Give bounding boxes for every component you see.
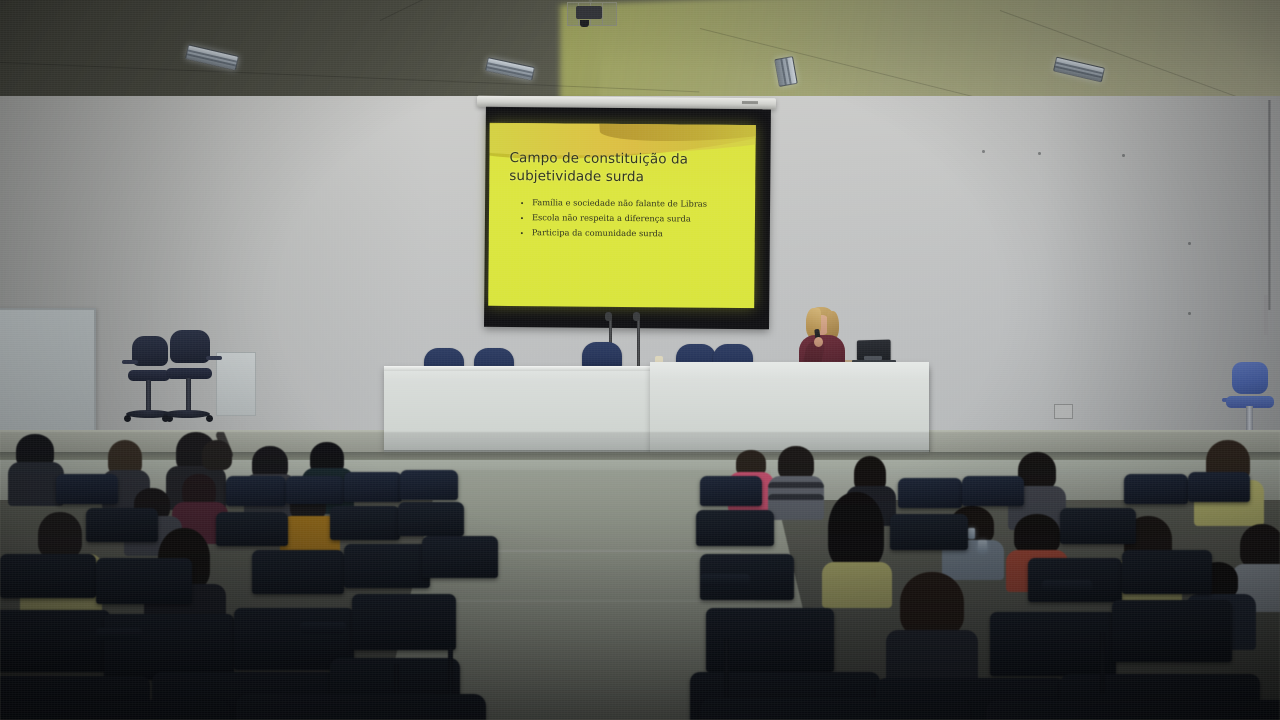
wall-conduit: [1268, 100, 1271, 310]
auditorium-seat: [0, 610, 110, 672]
auditorium-seat: [398, 502, 464, 536]
auditorium-seat: [330, 506, 400, 540]
slide-bullet-item: Participa da comunidade surda: [532, 227, 754, 239]
projection-screen: Campo de constituição da subjetividade s…: [480, 97, 770, 332]
auditorium-seat: [890, 514, 968, 550]
auditorium-seat-foreground: [0, 700, 230, 720]
auditorium-seat: [1124, 474, 1188, 504]
left-wall-panel: [0, 308, 96, 432]
slide-title-line-2: subjetividade surda: [509, 167, 734, 187]
auditorium-seat: [400, 470, 458, 500]
auditorium-seat: [962, 476, 1024, 506]
auditorium-seat: [216, 512, 288, 546]
smartphone-icon: [978, 540, 987, 552]
seat-armrest: [1042, 580, 1092, 592]
auditorium-seat: [252, 550, 344, 594]
seat-leg: [724, 638, 729, 700]
auditorium-seat: [0, 554, 96, 598]
smartphone-icon: [968, 528, 975, 539]
slide-title: Campo de constituição da subjetividade s…: [509, 149, 734, 187]
auditorium-seat: [696, 510, 774, 546]
wall-mark: [1188, 242, 1191, 245]
auditorium-seat: [1122, 550, 1212, 594]
stage-chair: [582, 342, 622, 368]
microphone-stand: [637, 318, 640, 366]
auditorium-seat: [104, 614, 234, 680]
seat-armrest: [700, 574, 750, 586]
seat-leg: [1100, 632, 1105, 694]
wall-outlet-icon: [1054, 404, 1073, 419]
wall-mark: [1188, 312, 1191, 315]
wall-mark: [982, 150, 985, 153]
auditorium-seat-foreground: [700, 698, 970, 720]
auditorium-seat: [226, 476, 286, 506]
auditorium-seat: [56, 474, 118, 504]
projected-slide: Campo de constituição da subjetividade s…: [488, 123, 756, 308]
auditorium-seat: [990, 612, 1116, 676]
slide-bullet-item: Escola não respeita a diferença surda: [532, 212, 754, 224]
seat-armrest: [96, 628, 142, 640]
slide-title-line-1: Campo de constituição da: [509, 149, 734, 169]
auditorium-seat: [86, 508, 158, 542]
side-desk: [216, 352, 256, 416]
aisle-step: [455, 600, 755, 602]
auditorium-seat-foreground: [236, 694, 486, 720]
slide-bullet-list: Família e sociedade não falante de Libra…: [523, 197, 754, 244]
auditorium-seat: [700, 476, 762, 506]
slide-bullet-item: Família e sociedade não falante de Libra…: [532, 197, 754, 209]
auditorium-seat: [1188, 472, 1250, 502]
auditorium-seat: [352, 594, 456, 650]
aisle-step: [470, 550, 740, 552]
auditorium-seat: [344, 472, 402, 502]
auditorium-seat: [1060, 508, 1136, 544]
auditorium-seat: [1112, 600, 1232, 662]
presenter-hand: [814, 337, 823, 347]
seat-armrest: [300, 622, 346, 634]
auditorium-seat: [96, 558, 192, 604]
microphone-icon: [605, 312, 612, 321]
auditorium-seat: [344, 544, 430, 588]
microphone-icon: [633, 312, 640, 321]
auditorium-photo: Campo de constituição da subjetividade s…: [0, 0, 1280, 720]
auditorium-seat-foreground: [986, 700, 1280, 720]
audience-area: [0, 432, 1280, 720]
wall-mark: [1122, 154, 1125, 157]
wall-conduit: [1264, 295, 1268, 335]
auditorium-seat: [898, 478, 962, 508]
auditorium-seat: [422, 536, 498, 578]
ceiling-projector-icon: [567, 0, 615, 30]
auditorium-seat: [286, 476, 344, 504]
wall-mark: [1038, 152, 1041, 155]
